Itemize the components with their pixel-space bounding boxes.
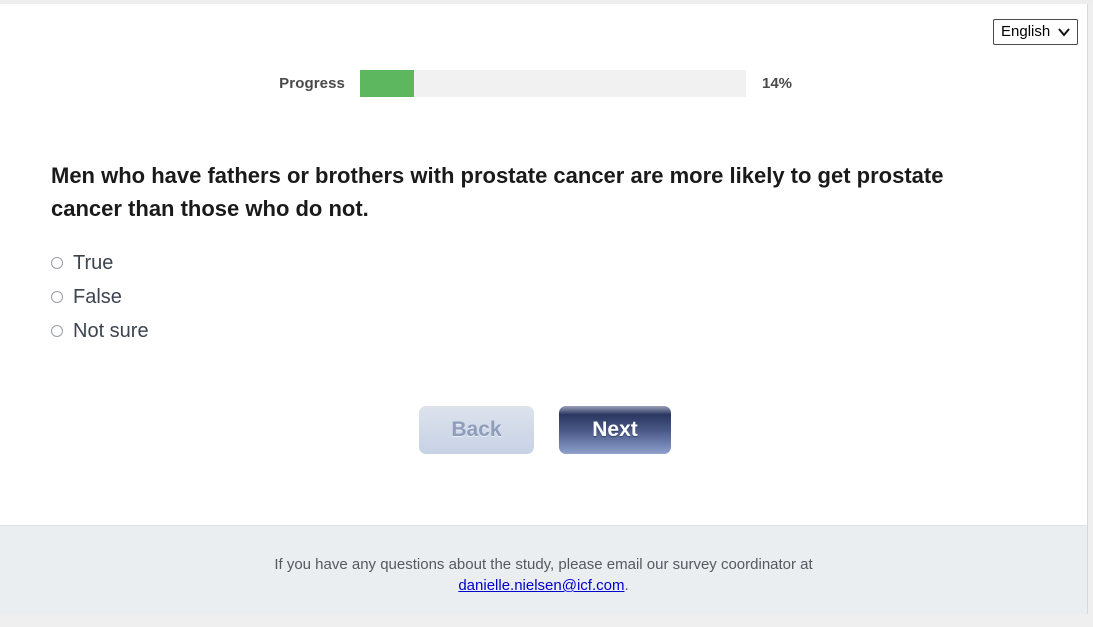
progress-track [360,70,746,97]
option-label: False [73,285,122,309]
language-selector[interactable]: English [993,19,1078,45]
coordinator-email-link[interactable]: danielle.nielsen@icf.com [458,577,624,594]
footer-text-before: If you have any questions about the stud… [274,556,812,573]
progress-label: Progress [0,75,360,92]
answer-options: TrueFalseNot sure [51,246,149,348]
footer-panel: If you have any questions about the stud… [0,525,1088,614]
progress-fill [360,70,414,97]
next-button[interactable]: Next [559,406,671,454]
option-row[interactable]: True [51,246,149,280]
footer-text: If you have any questions about the stud… [0,554,1087,596]
option-label: Not sure [73,319,149,343]
language-select[interactable]: English [993,19,1078,45]
survey-page: English Progress 14% Men who have father… [0,0,1093,627]
radio-button-true[interactable] [51,257,63,269]
progress-row: Progress 14% [0,70,1088,97]
radio-button-not-sure[interactable] [51,325,63,337]
progress-percent-text: 14% [762,75,792,92]
radio-button-false[interactable] [51,291,63,303]
navigation-buttons: Back Next [419,406,671,454]
option-row[interactable]: False [51,280,149,314]
option-label: True [73,251,113,275]
option-row[interactable]: Not sure [51,314,149,348]
question-text: Men who have fathers or brothers with pr… [51,159,986,225]
back-button[interactable]: Back [419,406,534,454]
survey-content-frame: English Progress 14% Men who have father… [0,4,1088,610]
footer-text-after: . [624,577,628,594]
